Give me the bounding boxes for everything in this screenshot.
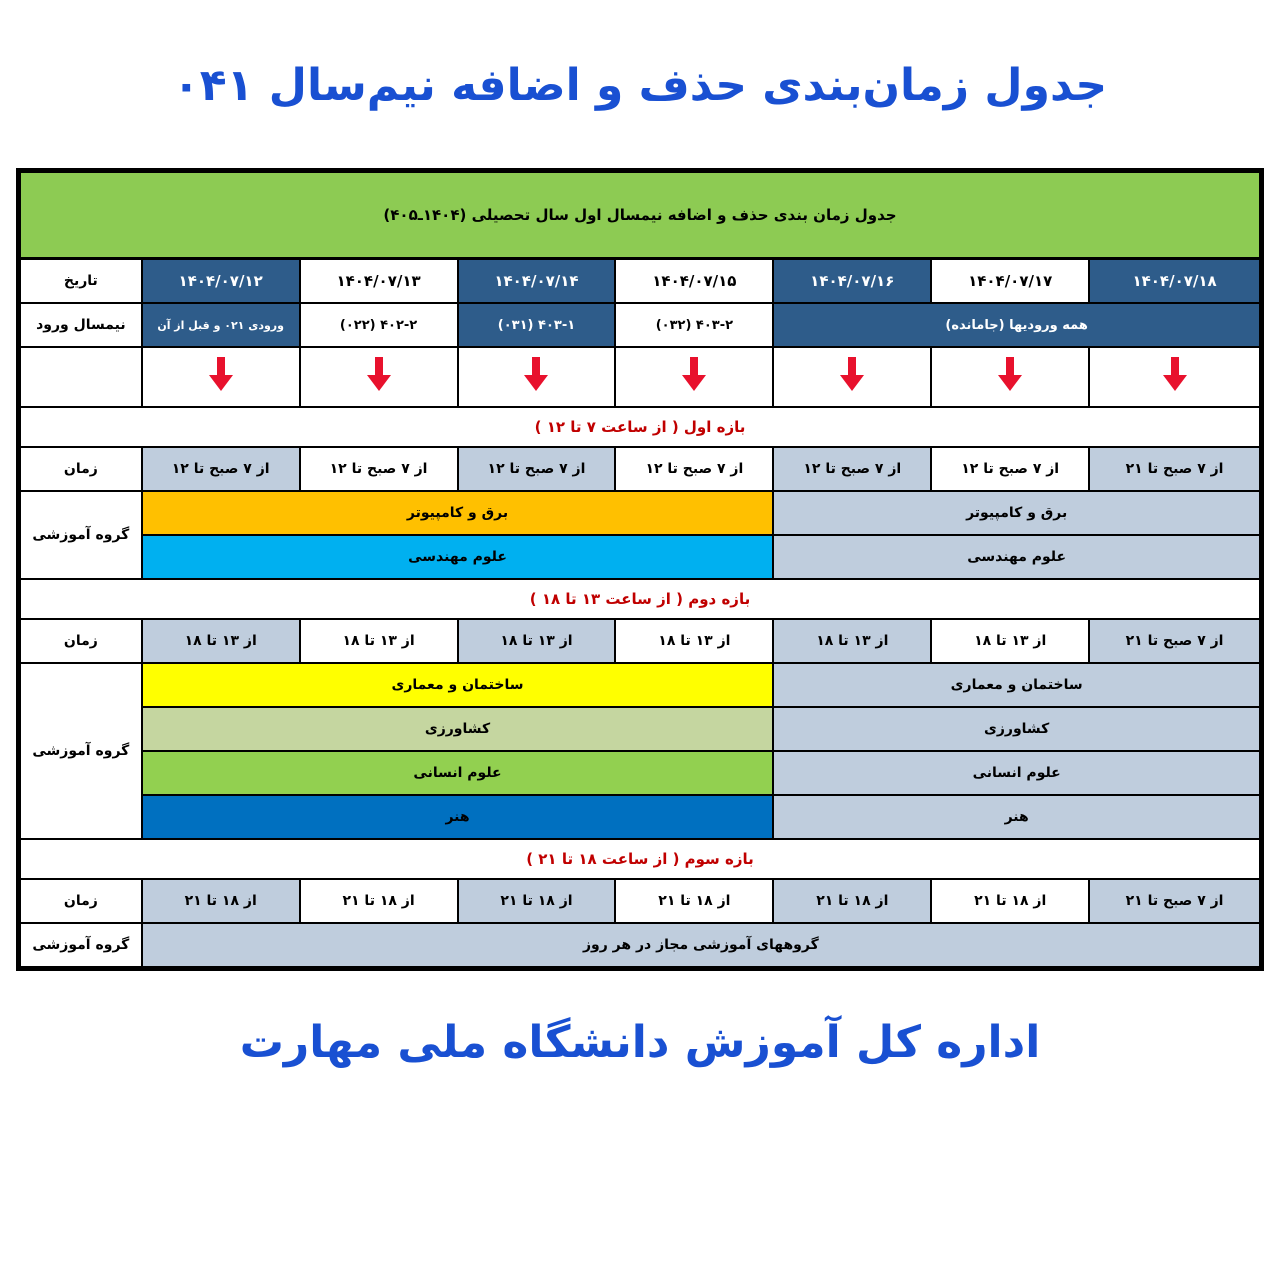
time-cell-b2-2: از ۱۳ تا ۱۸ [773,619,931,663]
group-left-b1-1: علوم مهندسی [773,535,1260,579]
band-3-group-row-0: گروههای آموزشی مجاز در هر روز گروه آموزش… [20,923,1260,967]
time-cell-b1-5: از ۷ صبح تا ۱۲ [300,447,458,491]
schedule-table: جدول زمان بندی حذف و اضافه نیمسال اول سا… [19,171,1261,968]
row-label-time-b1: زمان [20,447,142,491]
time-cell-b3-6: از ۱۸ تا ۲۱ [142,879,300,923]
band-2-time-row: از ۷ صبح تا ۲۱ از ۱۳ تا ۱۸ از ۱۳ تا ۱۸ ا… [20,619,1260,663]
band-1-time-row: از ۷ صبح تا ۲۱ از ۷ صبح تا ۱۲ از ۷ صبح ت… [20,447,1260,491]
group-right-b2-2: علوم انسانی [142,751,774,795]
group-right-b1-1: علوم مهندسی [142,535,774,579]
entry-semester-cell-1: ۴۰۳-۲ (۰۳۲) [615,303,773,347]
down-arrow-icon [773,347,931,407]
time-cell-b2-3: از ۱۳ تا ۱۸ [615,619,773,663]
band-1-group-row-0: برق و کامپیوتر برق و کامپیوتر گروه آموزش… [20,491,1260,535]
time-cell-b2-4: از ۱۳ تا ۱۸ [458,619,616,663]
time-cell-b1-4: از ۷ صبح تا ۱۲ [458,447,616,491]
row-label-date: تاریخ [20,259,142,304]
date-cell-2: ۱۴۰۴/۰۷/۱۶ [773,259,931,304]
time-cell-b3-5: از ۱۸ تا ۲۱ [300,879,458,923]
row-label-time-b2: زمان [20,619,142,663]
date-cell-6: ۱۴۰۴/۰۷/۱۲ [142,259,300,304]
row-label-group-b3: گروه آموزشی [20,923,142,967]
time-cell-b2-1: از ۱۳ تا ۱۸ [931,619,1089,663]
entry-semester-row: همه ورودیها (جامانده) ۴۰۳-۲ (۰۳۲) ۴۰۳-۱ … [20,303,1260,347]
down-arrow-icon [615,347,773,407]
time-cell-b1-0: از ۷ صبح تا ۲۱ [1089,447,1260,491]
band-1-group-row-1: علوم مهندسی علوم مهندسی [20,535,1260,579]
arrow-row-spacer [20,347,142,407]
time-cell-b2-6: از ۱۳ تا ۱۸ [142,619,300,663]
date-cell-3: ۱۴۰۴/۰۷/۱۵ [615,259,773,304]
entry-semester-cell-2: ۴۰۳-۱ (۰۳۱) [458,303,616,347]
band-3-time-row: از ۷ صبح تا ۲۱ از ۱۸ تا ۲۱ از ۱۸ تا ۲۱ ا… [20,879,1260,923]
time-cell-b1-6: از ۷ صبح تا ۱۲ [142,447,300,491]
band-title-3: بازه سوم ( از ساعت ۱۸ تا ۲۱ ) [20,839,1260,879]
time-cell-b1-1: از ۷ صبح تا ۱۲ [931,447,1089,491]
row-label-time-b3: زمان [20,879,142,923]
time-cell-b3-0: از ۷ صبح تا ۲۱ [1089,879,1260,923]
band-2-group-row-2: علوم انسانی علوم انسانی [20,751,1260,795]
group-right-b2-0: ساختمان و معماری [142,663,774,707]
group-right-b1-0: برق و کامپیوتر [142,491,774,535]
page-title: جدول زمان‌بندی حذف و اضافه نیم‌سال ۰۴۱ [0,0,1280,110]
group-left-b2-0: ساختمان و معماری [773,663,1260,707]
row-label-group-b1: گروه آموزشی [20,491,142,579]
arrow-row [20,347,1260,407]
date-cell-0: ۱۴۰۴/۰۷/۱۸ [1089,259,1260,304]
group-left-b1-0: برق و کامپیوتر [773,491,1260,535]
time-cell-b3-1: از ۱۸ تا ۲۱ [931,879,1089,923]
entry-semester-cell-0: همه ورودیها (جامانده) [773,303,1260,347]
band-2-group-row-0: ساختمان و معماری ساختمان و معماری گروه آ… [20,663,1260,707]
band-title-row-1: بازه اول ( از ساعت ۷ تا ۱۲ ) [20,407,1260,447]
schedule-table-container: جدول زمان بندی حذف و اضافه نیمسال اول سا… [16,168,1264,971]
time-cell-b1-3: از ۷ صبح تا ۱۲ [615,447,773,491]
time-cell-b1-2: از ۷ صبح تا ۱۲ [773,447,931,491]
down-arrow-icon [931,347,1089,407]
down-arrow-icon [1089,347,1260,407]
band-title-row-2: بازه دوم ( از ساعت ۱۳ تا ۱۸ ) [20,579,1260,619]
time-cell-b3-3: از ۱۸ تا ۲۱ [615,879,773,923]
group-left-b2-1: کشاورزی [773,707,1260,751]
down-arrow-icon [458,347,616,407]
row-label-group-b2: گروه آموزشی [20,663,142,839]
group-left-b2-3: هنر [773,795,1260,839]
band-title-1: بازه اول ( از ساعت ۷ تا ۱۲ ) [20,407,1260,447]
time-cell-b3-2: از ۱۸ تا ۲۱ [773,879,931,923]
entry-semester-cell-3: ۴۰۲-۲ (۰۲۲) [300,303,458,347]
time-cell-b3-4: از ۱۸ تا ۲۱ [458,879,616,923]
time-cell-b2-0: از ۷ صبح تا ۲۱ [1089,619,1260,663]
band-title-row-3: بازه سوم ( از ساعت ۱۸ تا ۲۱ ) [20,839,1260,879]
group-right-b2-3: هنر [142,795,774,839]
group-all-b3-0: گروههای آموزشی مجاز در هر روز [142,923,1260,967]
date-cell-1: ۱۴۰۴/۰۷/۱۷ [931,259,1089,304]
date-cell-4: ۱۴۰۴/۰۷/۱۴ [458,259,616,304]
table-header-row: جدول زمان بندی حذف و اضافه نیمسال اول سا… [20,172,1260,259]
date-cell-5: ۱۴۰۴/۰۷/۱۳ [300,259,458,304]
row-label-entry-semester: نیمسال ورود [20,303,142,347]
band-title-2: بازه دوم ( از ساعت ۱۳ تا ۱۸ ) [20,579,1260,619]
down-arrow-icon [142,347,300,407]
band-2-group-row-3: هنر هنر [20,795,1260,839]
date-row: ۱۴۰۴/۰۷/۱۸ ۱۴۰۴/۰۷/۱۷ ۱۴۰۴/۰۷/۱۶ ۱۴۰۴/۰۷… [20,259,1260,304]
down-arrow-icon [300,347,458,407]
group-right-b2-1: کشاورزی [142,707,774,751]
band-2-group-row-1: کشاورزی کشاورزی [20,707,1260,751]
entry-semester-cell-4: ورودی ۰۲۱ و قبل از آن [142,303,300,347]
poster-page: جدول زمان‌بندی حذف و اضافه نیم‌سال ۰۴۱ ج… [0,0,1280,1280]
group-left-b2-2: علوم انسانی [773,751,1260,795]
page-footer: اداره کل آموزش دانشگاه ملی مهارت [0,971,1280,1068]
time-cell-b2-5: از ۱۳ تا ۱۸ [300,619,458,663]
table-header-title: جدول زمان بندی حذف و اضافه نیمسال اول سا… [20,172,1260,259]
